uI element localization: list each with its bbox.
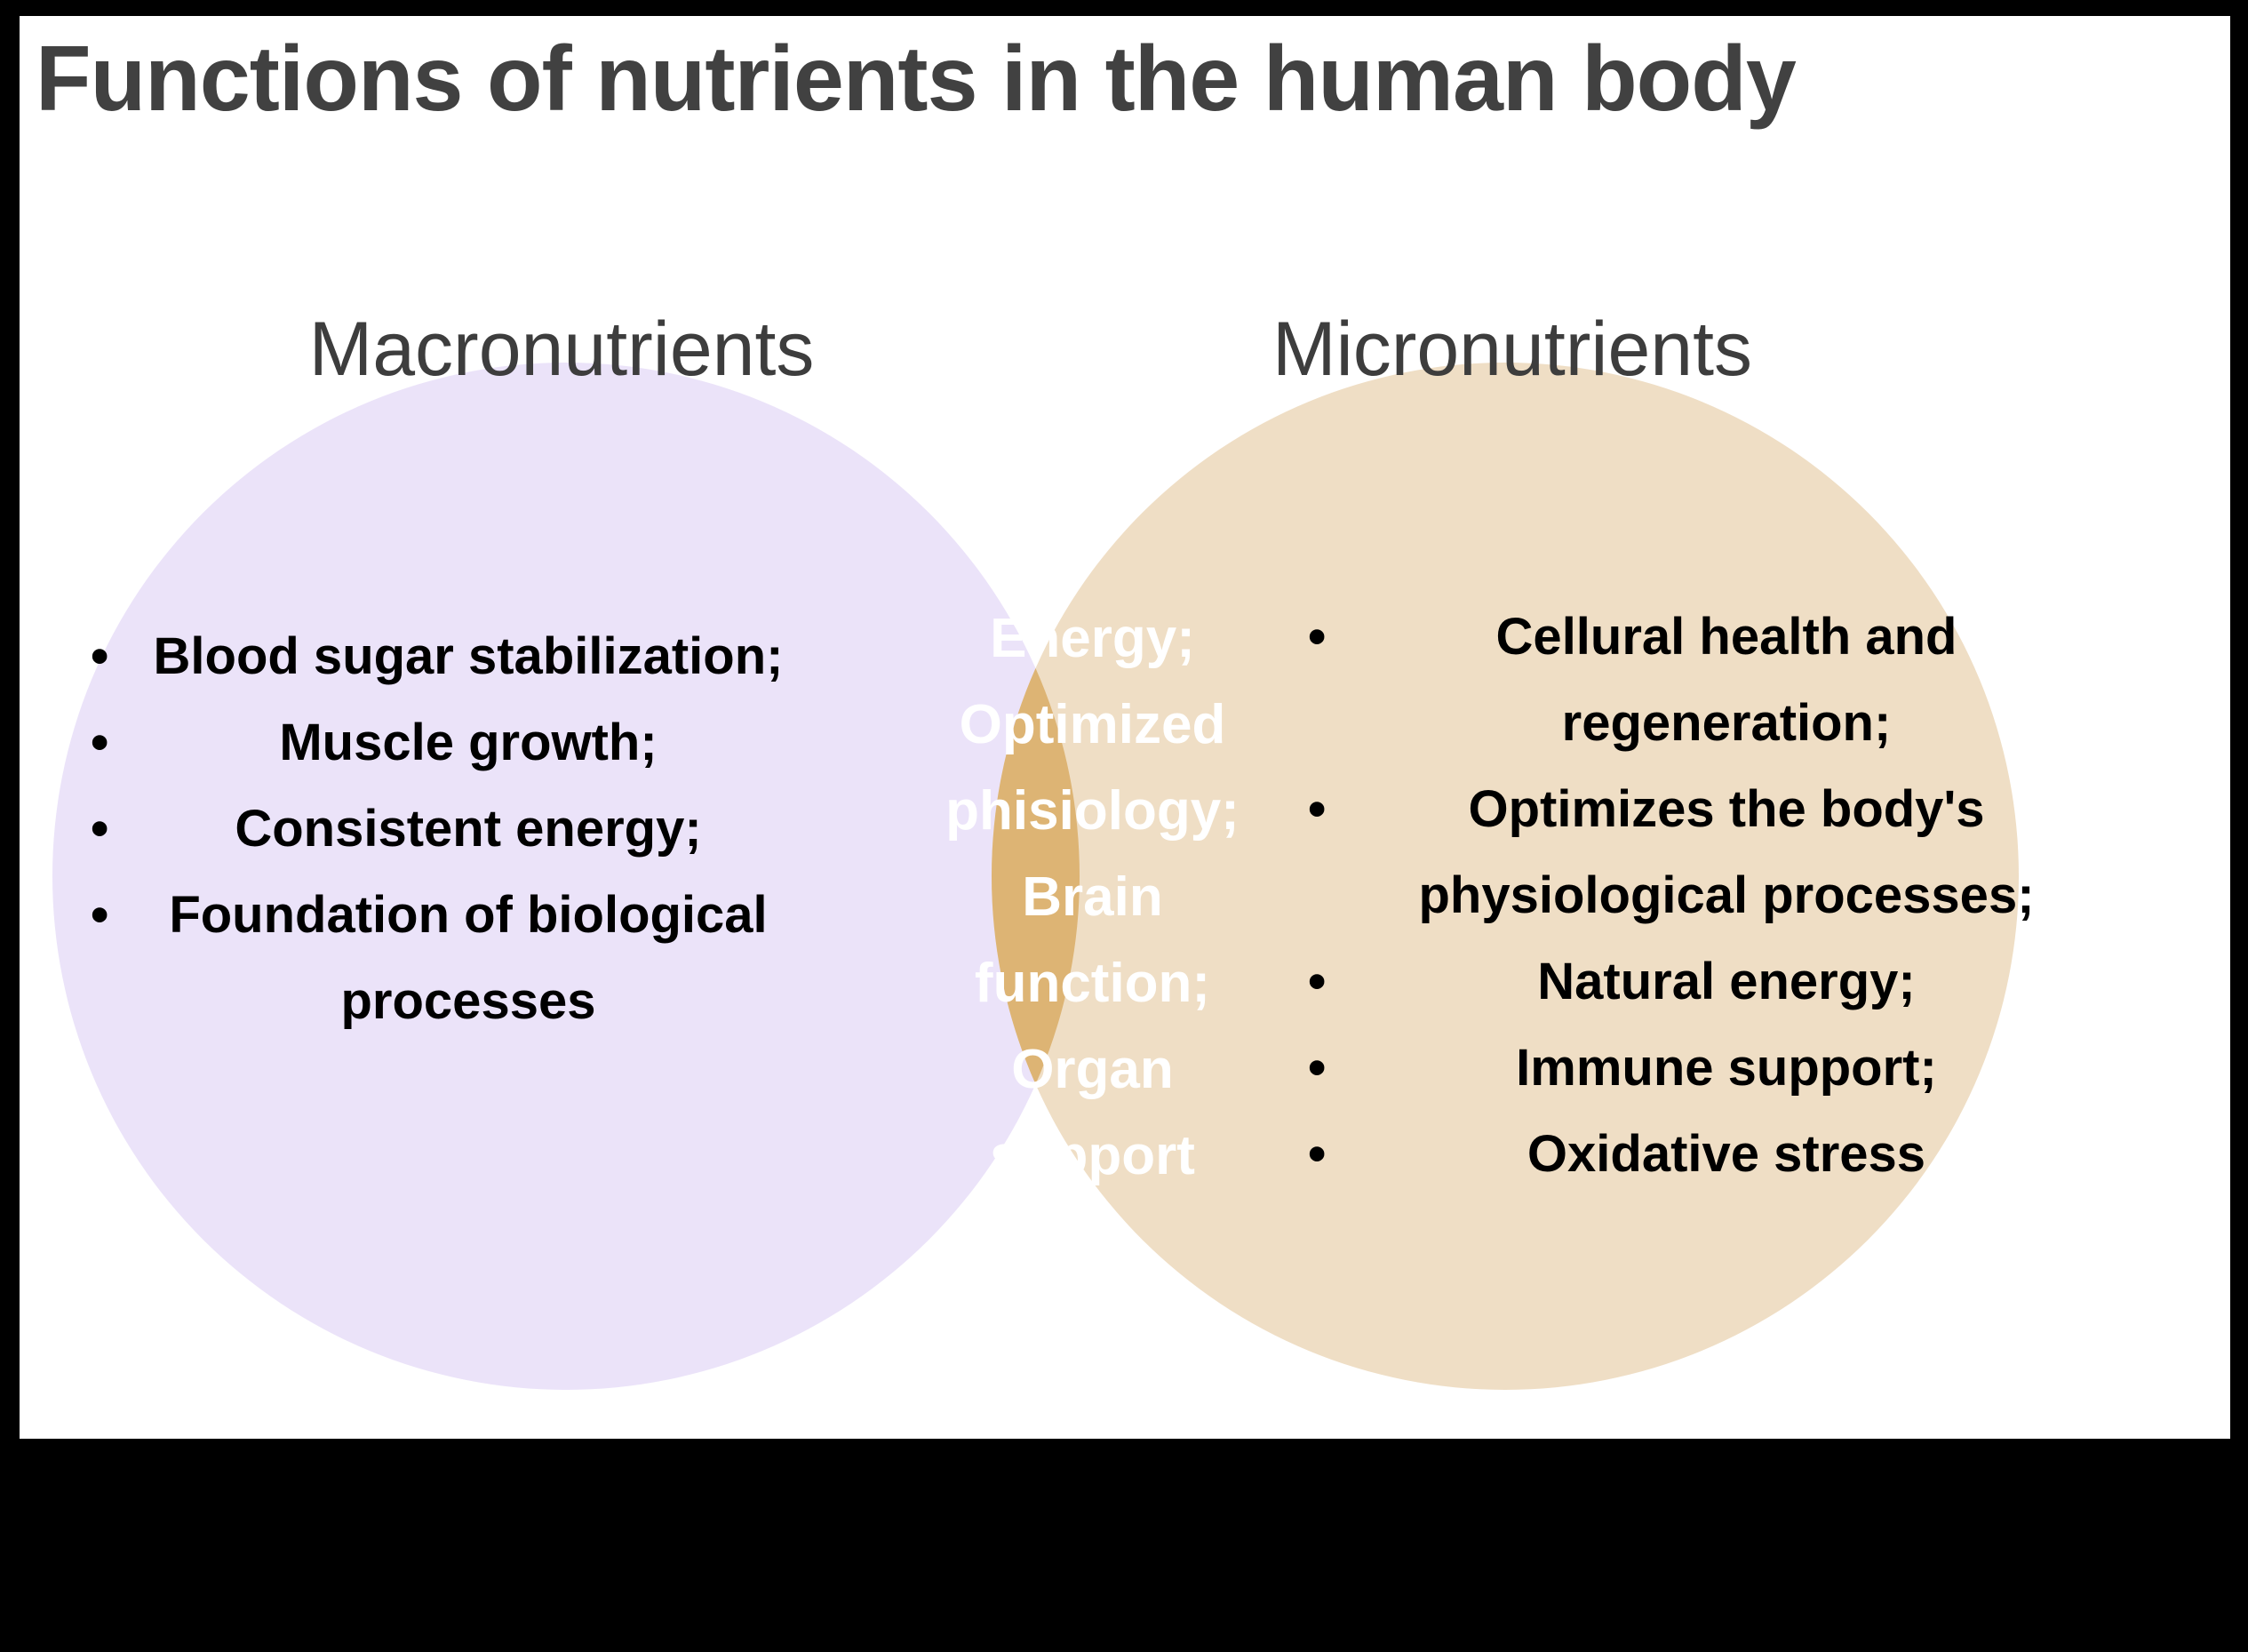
bullet-icon: • <box>91 786 142 872</box>
list-item: • Blood sugar stabilization; <box>91 613 793 699</box>
bullet-icon: • <box>91 699 142 786</box>
list-item: • Foundation of biological processes <box>91 872 793 1044</box>
bullet-icon: • <box>1308 594 1359 680</box>
list-item-text: Optimizes the body's physiological proce… <box>1308 766 2090 938</box>
list-item-text: Blood sugar stabilization; <box>91 613 793 699</box>
list-item: • Optimizes the body's physiological pro… <box>1308 766 2090 938</box>
bullet-icon: • <box>1308 766 1359 852</box>
list-item: • Oxidative stress <box>1308 1111 2090 1197</box>
list-item: • Immune support; <box>1308 1025 2090 1111</box>
macronutrients-list: • Blood sugar stabilization; • Muscle gr… <box>91 613 793 1044</box>
list-item: • Muscle growth; <box>91 699 793 786</box>
list-item-text: Immune support; <box>1308 1025 2090 1111</box>
bullet-icon: • <box>1308 1025 1359 1111</box>
list-item: • Natural energy; <box>1308 938 2090 1025</box>
venn-label-micronutrients: Micronutrients <box>1112 305 1912 394</box>
list-item-text: Foundation of biological processes <box>91 872 793 1044</box>
venn-diagram: Macronutrients Micronutrients • Blood su… <box>20 16 2230 1439</box>
bullet-icon: • <box>1308 938 1359 1025</box>
list-item-text: Natural energy; <box>1308 938 2090 1025</box>
micronutrients-list: • Cellural health and regeneration; • Op… <box>1308 594 2090 1197</box>
bullet-icon: • <box>1308 1111 1359 1197</box>
screenshot-canvas: Functions of nutrients in the human body… <box>0 0 2248 1652</box>
diagram-card: Functions of nutrients in the human body… <box>20 16 2230 1439</box>
list-item-text: Oxidative stress <box>1308 1111 2090 1197</box>
bullet-icon: • <box>91 872 142 958</box>
list-item-text: Consistent energy; <box>91 786 793 872</box>
list-item: • Consistent energy; <box>91 786 793 872</box>
bullet-icon: • <box>91 613 142 699</box>
venn-intersection-text: Energy; Optimized phisiology; Brain func… <box>908 595 1277 1199</box>
list-item-text: Muscle growth; <box>91 699 793 786</box>
list-item: • Cellural health and regeneration; <box>1308 594 2090 766</box>
venn-label-macronutrients: Macronutrients <box>162 305 961 394</box>
list-item-text: Cellural health and regeneration; <box>1308 594 2090 766</box>
